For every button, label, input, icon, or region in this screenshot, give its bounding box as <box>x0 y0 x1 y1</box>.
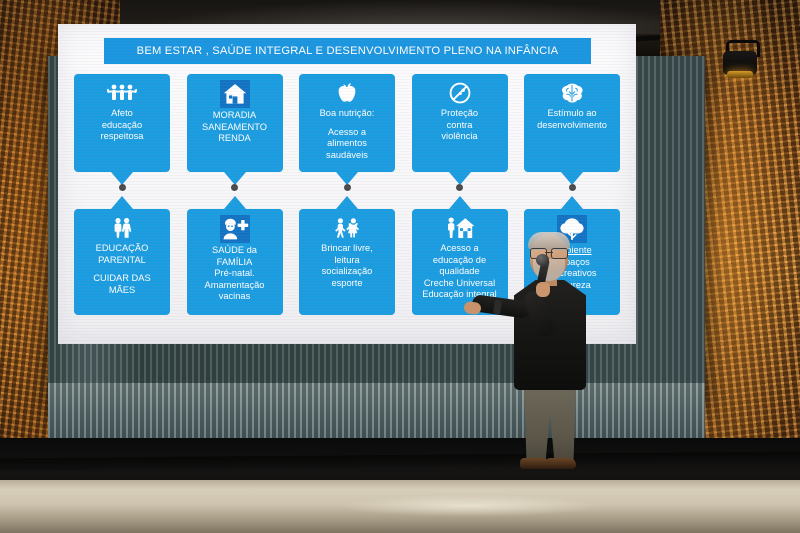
card-text-line: Acesso a <box>320 127 375 139</box>
connector-dot <box>456 184 463 191</box>
card-text-line: FAMÍLIA <box>205 257 265 269</box>
card-text-line: saudáveis <box>320 150 375 162</box>
card-text-line: violência <box>441 131 478 143</box>
child-and-school-house-icon <box>445 215 475 241</box>
connector-dot <box>569 184 576 191</box>
card-pointer-tail <box>111 196 133 209</box>
microphone-head-icon <box>536 254 549 266</box>
nurse-baby-health-icon <box>220 215 250 243</box>
connector-dot-cell <box>299 184 395 191</box>
card-text: EDUCAÇÃOPARENTALCUIDAR DASMÃES <box>89 243 154 296</box>
connector-dot <box>344 184 351 191</box>
slide-card-row1-3: Boa nutrição:Acesso aalimentossaudáveis <box>299 74 395 172</box>
connector-dot <box>119 184 126 191</box>
card-text-line: Estímulo ao <box>537 108 607 120</box>
card-text-line: esporte <box>321 278 373 290</box>
slide-row-1: AfetoeducaçãorespeitosaMORADIASANEAMENTO… <box>74 74 620 172</box>
three-people-holding-hands-icon <box>107 80 137 106</box>
card-text-line: EDUCAÇÃO <box>93 243 150 255</box>
card-text: Estímulo aodesenvolvimento <box>533 108 611 131</box>
card-pointer-tail <box>561 196 583 209</box>
card-text-line: contra <box>441 120 478 132</box>
card-text-line: SAÚDE da <box>205 245 265 257</box>
connector-dot-cell <box>524 184 620 191</box>
slide-title-bar: BEM ESTAR , SAÚDE INTEGRAL E DESENVOLVIM… <box>104 38 591 64</box>
card-text: Proteçãocontraviolência <box>437 108 482 143</box>
house-icon <box>220 80 250 108</box>
slide-card-row2-1: EDUCAÇÃOPARENTALCUIDAR DASMÃES <box>74 209 170 315</box>
connector-dot <box>231 184 238 191</box>
card-text-line: SANEAMENTO <box>202 122 267 134</box>
connector-dot-cell <box>74 184 170 191</box>
connector-dot-cell <box>187 184 283 191</box>
speaker-shoe-right <box>546 458 576 469</box>
card-text-line: vacinas <box>205 291 265 303</box>
card-text-line: Brincar livre, <box>321 243 373 255</box>
two-children-playing-icon <box>332 215 362 241</box>
card-text: Boa nutrição:Acesso aalimentossaudáveis <box>316 108 379 161</box>
apple-icon <box>332 80 362 106</box>
card-text-line: MORADIA <box>202 110 267 122</box>
card-text: MORADIASANEAMENTORENDA <box>198 110 271 145</box>
slide-card-row1-4: Proteçãocontraviolência <box>412 74 508 172</box>
parents-couple-icon <box>107 215 137 241</box>
card-text-line: Proteção <box>441 108 478 120</box>
card-text: Brincar livre,leiturasocializaçãoesporte <box>317 243 377 289</box>
brain-icon <box>557 80 587 106</box>
slide-card-row1-2: MORADIASANEAMENTORENDA <box>187 74 283 172</box>
connector-dot-cell <box>412 184 508 191</box>
card-text-line: RENDA <box>202 133 267 145</box>
card-text-line: Afeto <box>101 108 144 120</box>
slide-card-row2-3: Brincar livre,leiturasocializaçãoesporte <box>299 209 395 315</box>
card-text-line: Pré-natal. <box>205 268 265 280</box>
step-light-reflection <box>340 495 600 517</box>
no-violence-prohibition-icon <box>445 80 475 106</box>
connector-dots-row <box>74 184 620 191</box>
card-text-line: PARENTAL <box>93 255 150 267</box>
card-text-line: respeitosa <box>101 131 144 143</box>
card-pointer-tail <box>336 196 358 209</box>
card-text: SAÚDE daFAMÍLIAPré-natal.Amamentaçãovaci… <box>201 245 269 303</box>
slide-card-row2-2: SAÚDE daFAMÍLIAPré-natal.Amamentaçãovaci… <box>187 209 283 315</box>
card-text-line: educação <box>101 120 144 132</box>
card-text-line: alimentos <box>320 138 375 150</box>
card-pointer-tail <box>449 196 471 209</box>
card-text-line: desenvolvimento <box>537 120 607 132</box>
card-text-line: Boa nutrição: <box>320 108 375 120</box>
card-text-line: socialização <box>321 266 373 278</box>
card-text-line: CUIDAR DAS <box>93 273 150 285</box>
card-text: Afetoeducaçãorespeitosa <box>97 108 148 143</box>
slide-card-row1-1: Afetoeducaçãorespeitosa <box>74 74 170 172</box>
speaker-glasses-icon <box>530 248 568 257</box>
speaker-person <box>486 232 616 484</box>
card-text-line: Amamentação <box>205 280 265 292</box>
conference-stage-photo: BEM ESTAR , SAÚDE INTEGRAL E DESENVOLVIM… <box>0 0 800 533</box>
speaker-legs <box>522 384 578 462</box>
card-pointer-tail <box>224 196 246 209</box>
speaker-hand-right <box>536 282 550 297</box>
slide-card-row1-5: Estímulo aodesenvolvimento <box>524 74 620 172</box>
slide-title: BEM ESTAR , SAÚDE INTEGRAL E DESENVOLVIM… <box>137 45 559 57</box>
card-text-line: leitura <box>321 255 373 267</box>
stage-spotlight-icon <box>720 40 760 82</box>
card-text-line: MÃES <box>93 285 150 297</box>
